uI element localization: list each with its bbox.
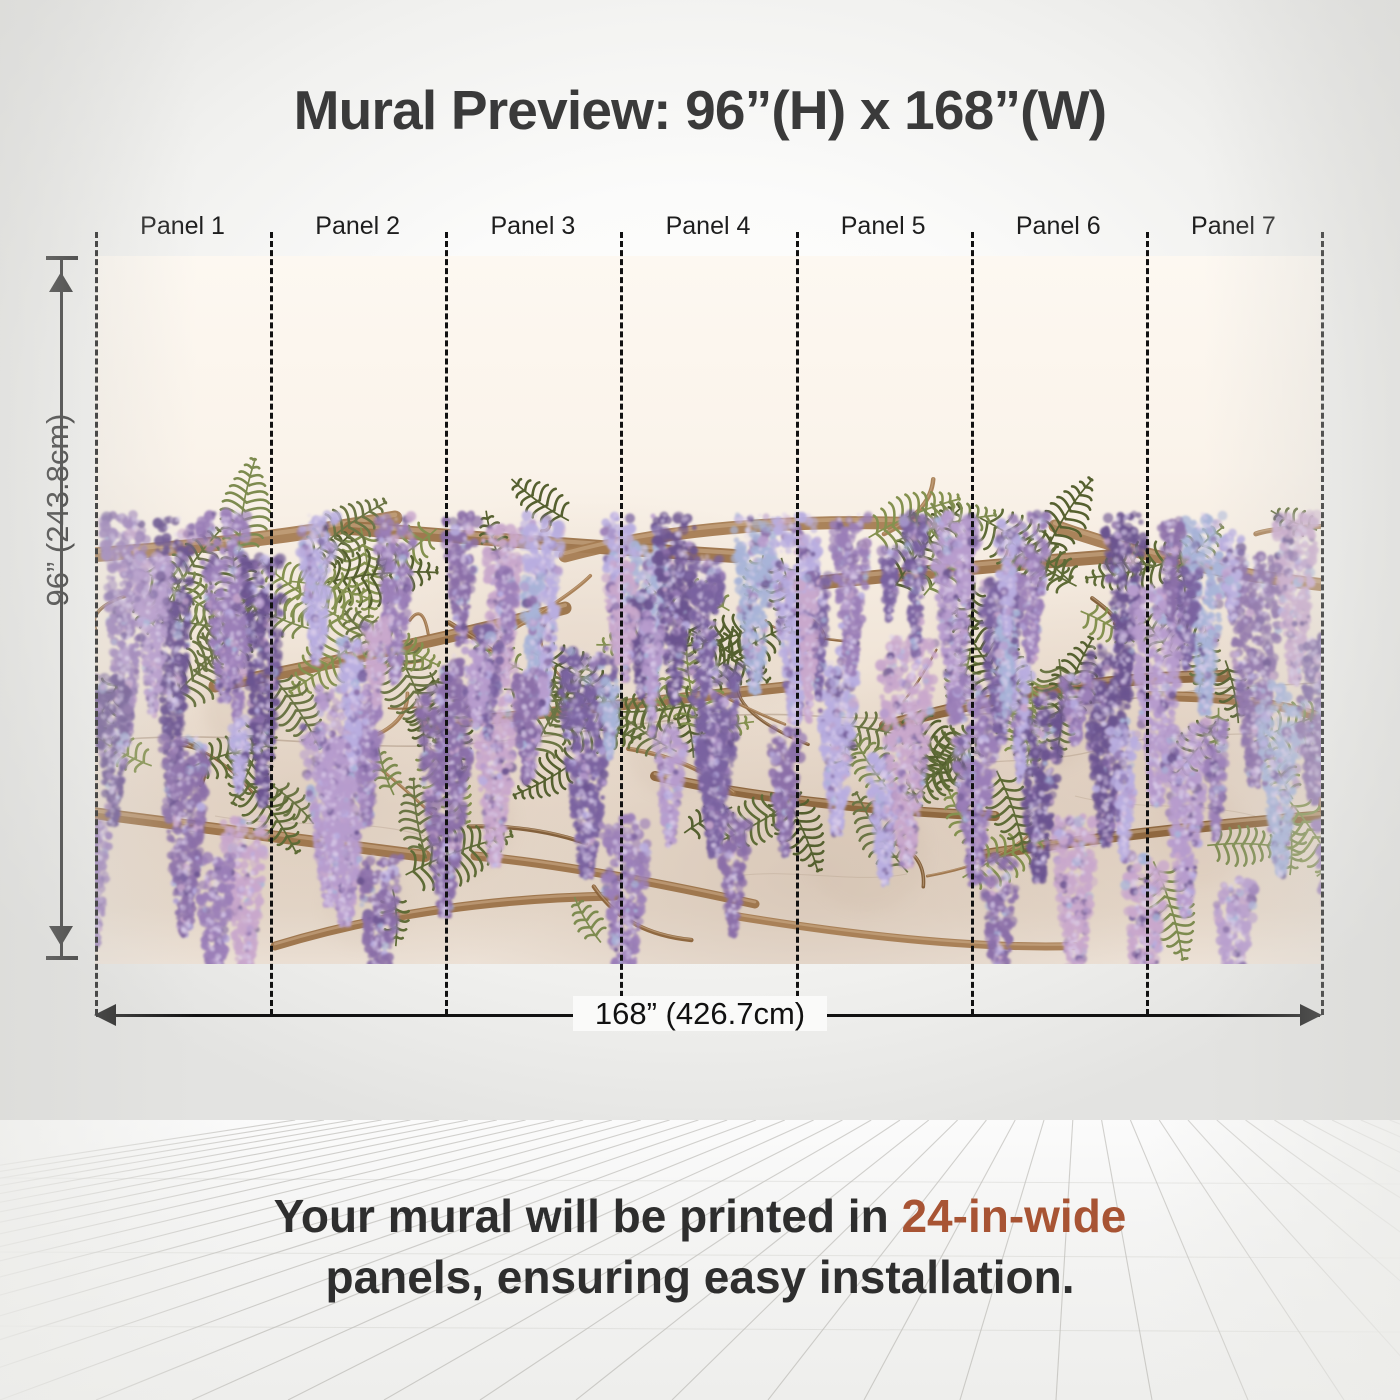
panel-divider-6 (971, 232, 974, 1015)
height-tick-bottom (46, 956, 78, 960)
wisteria-cluster (1295, 714, 1321, 806)
panel-divider-3 (445, 232, 448, 1015)
panel-divider-1 (95, 232, 98, 1015)
wisteria-artwork (95, 256, 1321, 964)
height-dimension-label: 96” (243.8cm) (40, 390, 76, 630)
mural-preview-image (95, 256, 1321, 964)
panel-label-6: Panel 6 (970, 212, 1146, 241)
panel-label-4: Panel 4 (620, 212, 796, 241)
panel-divider-7 (1146, 232, 1149, 1015)
wisteria-cluster (1255, 682, 1310, 879)
page-title: Mural Preview: 96”(H) x 168”(W) (0, 78, 1400, 142)
wall-scene: Mural Preview: 96”(H) x 168”(W) Panel 1P… (0, 0, 1400, 1120)
height-tick-top (46, 256, 78, 260)
width-dimension-label: 168” (426.7cm) (0, 996, 1400, 1032)
panel-divider-2 (270, 232, 273, 1015)
wisteria-cluster (898, 509, 929, 658)
caption-line-1: Your mural will be printed in 24-in-wide (0, 1186, 1400, 1247)
height-arrowhead-up (49, 272, 73, 292)
panel-label-2: Panel 2 (270, 212, 446, 241)
wisteria-cluster (598, 813, 652, 964)
panel-divider-5 (796, 232, 799, 1015)
panel-label-1: Panel 1 (95, 212, 271, 241)
panel-label-7: Panel 7 (1145, 212, 1321, 241)
panel-label-5: Panel 5 (795, 212, 971, 241)
panel-divider-4 (620, 232, 623, 1015)
wisteria-cluster (828, 511, 873, 677)
caption-highlight: 24-in-wide (901, 1190, 1126, 1242)
height-arrowhead-down (49, 926, 73, 946)
panel-divider-8 (1321, 232, 1324, 1015)
wisteria-cluster (1213, 876, 1260, 965)
panel-label-3: Panel 3 (445, 212, 621, 241)
caption-line-1-pre: Your mural will be printed in (274, 1190, 902, 1242)
caption-line-2: panels, ensuring easy installation. (0, 1247, 1400, 1308)
wisteria-cluster (1120, 850, 1169, 964)
caption-text: Your mural will be printed in 24-in-wide… (0, 1186, 1400, 1307)
